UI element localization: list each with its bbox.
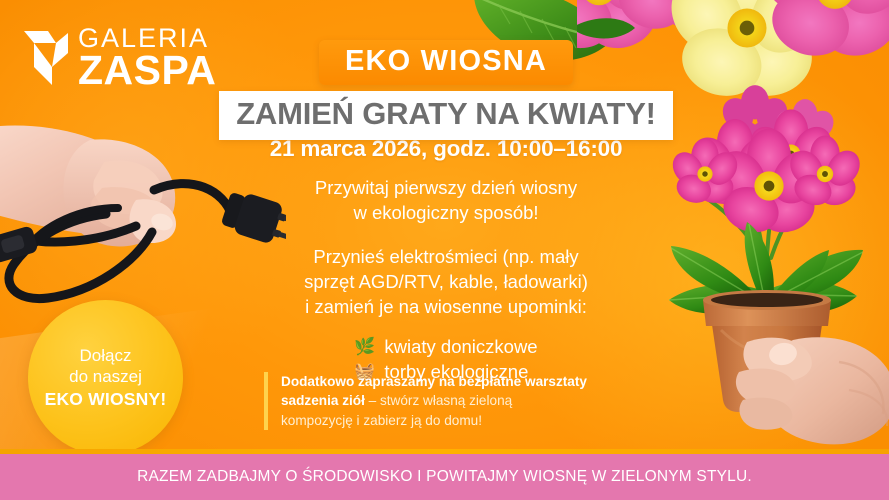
reward-label: kwiaty doniczkowe bbox=[384, 336, 537, 358]
galeria-zaspa-arrow-mark-icon bbox=[22, 27, 69, 89]
workshop-note: Dodatkowo zapraszamy na bezpłatne warszt… bbox=[264, 372, 654, 430]
herb-leaf-icon: 🌿 bbox=[354, 338, 375, 355]
lead-line-1: Przywitaj pierwszy dzień wiosny bbox=[196, 176, 696, 201]
event-copy-block: 21 marca 2026, godz. 10:00–16:00 Przywit… bbox=[196, 136, 696, 383]
list-item: 🌿 kwiaty doniczkowe bbox=[354, 336, 537, 358]
workshop-bold-line-2: sadzenia ziół bbox=[281, 393, 365, 408]
workshop-line-3: kompozycję i zabierz ją do domu! bbox=[281, 413, 482, 428]
footer-bar: RAZEM ZADBAJMY O ŚRODOWISKO I POWITAJMY … bbox=[0, 454, 889, 500]
logo-text-zaspa: ZASPA bbox=[78, 52, 216, 90]
workshop-rest-line-2: – stwórz własną zieloną bbox=[365, 393, 512, 408]
brand-logo[interactable]: GALERIA ZASPA bbox=[22, 26, 216, 90]
eko-wiosna-badge: EKO WIOSNA bbox=[319, 40, 573, 85]
workshop-bold-line-1: Dodatkowo zapraszamy na bezpłatne warszt… bbox=[281, 374, 587, 389]
instructions-paragraph: Przynieś elektrośmieci (np. mały sprzęt … bbox=[196, 245, 696, 319]
instructions-line-3: i zamień je na wiosenne upominki: bbox=[196, 295, 696, 320]
join-us-circle-badge[interactable]: Dołącz do naszej EKO WIOSNY! bbox=[28, 300, 183, 455]
badge-line-2: do naszej bbox=[69, 366, 142, 387]
instructions-line-1: Przynieś elektrośmieci (np. mały bbox=[196, 245, 696, 270]
promo-poster: GALERIA ZASPA EKO WIOSNA ZAMIEŃ GRATY NA… bbox=[0, 0, 889, 500]
lead-line-2: w ekologiczny sposób! bbox=[196, 201, 696, 226]
badge-line-1: Dołącz bbox=[80, 345, 132, 366]
event-lead-text: Przywitaj pierwszy dzień wiosny w ekolog… bbox=[196, 176, 696, 225]
instructions-line-2: sprzęt AGD/RTV, kable, ładowarki) bbox=[196, 270, 696, 295]
main-headline-banner: ZAMIEŃ GRATY NA KWIATY! bbox=[219, 91, 673, 140]
footer-slogan: RAZEM ZADBAJMY O ŚRODOWISKO I POWITAJMY … bbox=[137, 468, 752, 486]
badge-line-3: EKO WIOSNY! bbox=[45, 388, 167, 410]
headline-block: EKO WIOSNA ZAMIEŃ GRATY NA KWIATY! bbox=[196, 40, 696, 140]
